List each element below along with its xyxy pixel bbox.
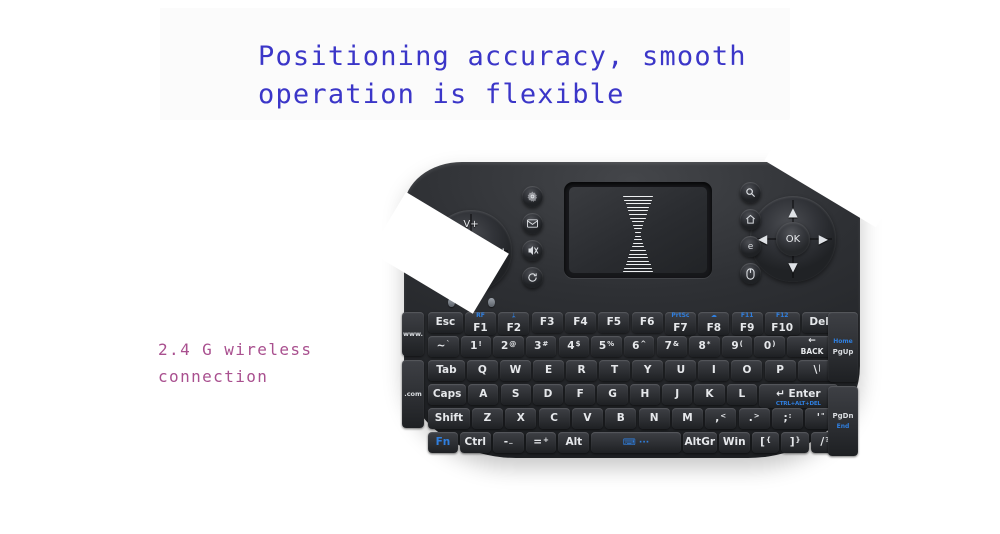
key-m[interactable]: M bbox=[672, 408, 703, 429]
side-key-com[interactable]: .com bbox=[402, 360, 424, 428]
touchpad-motif-stripe bbox=[635, 236, 640, 237]
key-z[interactable]: Z bbox=[472, 408, 503, 429]
touchpad-motif-stripe bbox=[624, 200, 652, 201]
key-f10[interactable]: F12F10 bbox=[765, 312, 800, 335]
key-r[interactable]: R bbox=[566, 360, 597, 381]
key-v[interactable]: V bbox=[572, 408, 603, 429]
body-bevel-left bbox=[370, 192, 509, 314]
edge-key-pgup[interactable]: HomePgUp bbox=[828, 312, 858, 382]
key-y[interactable]: Y bbox=[632, 360, 663, 381]
product-image: V+ V− ⏮ ⏭ ⏯ ▲ ▼ ◀ ▶ OK bbox=[398, 158, 868, 468]
touchpad-motif-stripe bbox=[634, 239, 642, 240]
key-f6[interactable]: F6 bbox=[632, 312, 663, 333]
touchpad-motif-stripe bbox=[626, 203, 651, 204]
key-key[interactable]: -_ bbox=[493, 432, 524, 453]
keyboard-body: V+ V− ⏮ ⏭ ⏯ ▲ ▼ ◀ ▶ OK bbox=[404, 162, 860, 458]
key-key[interactable]: =+ bbox=[526, 432, 557, 453]
key-f3[interactable]: F3 bbox=[532, 312, 563, 333]
touchpad-motif-stripe bbox=[627, 207, 650, 208]
key-2[interactable]: 2@ bbox=[493, 336, 524, 357]
key-f2[interactable]: ᛦF2 bbox=[498, 312, 529, 335]
settings-icon[interactable] bbox=[522, 186, 543, 207]
key-row-function-row: EscRFF1ᛦF2F3F4F5F6PrtScF7☁F8F11F9F12F10D… bbox=[428, 312, 840, 334]
touchpad-motif-stripe bbox=[627, 261, 650, 262]
key-f7[interactable]: PrtScF7 bbox=[665, 312, 696, 335]
key-d[interactable]: D bbox=[533, 384, 563, 405]
touchpad-motif-stripe bbox=[635, 232, 640, 233]
mute-icon[interactable] bbox=[522, 240, 543, 261]
touchpad-motif-stripe bbox=[629, 254, 647, 255]
key-g[interactable]: G bbox=[597, 384, 627, 405]
touchpad-motif-stripe bbox=[626, 264, 651, 265]
key-7[interactable]: 7& bbox=[657, 336, 688, 357]
key-row-number-row: ~`1!2@3#4$5%6^7&8*9(0)←BACK bbox=[428, 336, 840, 358]
key-key[interactable]: .> bbox=[739, 408, 770, 429]
key-t[interactable]: T bbox=[599, 360, 630, 381]
key-h[interactable]: H bbox=[630, 384, 660, 405]
touchpad-motif-stripe bbox=[628, 210, 648, 211]
key-altgr[interactable]: AltGr bbox=[683, 432, 717, 453]
key-key[interactable]: ]} bbox=[781, 432, 809, 453]
ok-button[interactable]: OK bbox=[776, 222, 810, 256]
key-space[interactable]: ⌨ ··· bbox=[591, 432, 680, 453]
home-icon[interactable] bbox=[740, 209, 761, 230]
touchpad-motif-stripe bbox=[630, 218, 645, 219]
touchpad-motif-stripe bbox=[623, 196, 653, 197]
key-f4[interactable]: F4 bbox=[565, 312, 596, 333]
key-5[interactable]: 5% bbox=[591, 336, 622, 357]
key-4[interactable]: 4$ bbox=[559, 336, 590, 357]
side-key-www[interactable]: www. bbox=[402, 312, 424, 356]
key-n[interactable]: N bbox=[639, 408, 670, 429]
key-caps[interactable]: Caps bbox=[428, 384, 466, 405]
feature-caption: 2.4 G wireless connection bbox=[158, 336, 388, 390]
key-esc[interactable]: Esc bbox=[428, 312, 463, 333]
key-8[interactable]: 8* bbox=[689, 336, 720, 357]
key-alt[interactable]: Alt bbox=[558, 432, 589, 453]
key-win[interactable]: Win bbox=[719, 432, 750, 453]
key-w[interactable]: W bbox=[500, 360, 531, 381]
touchpad-motif-stripe bbox=[628, 257, 648, 258]
mouse-icon[interactable] bbox=[740, 263, 761, 284]
key-f[interactable]: F bbox=[565, 384, 595, 405]
key-a[interactable]: A bbox=[468, 384, 498, 405]
key-o[interactable]: O bbox=[731, 360, 762, 381]
dpad-down-icon[interactable]: ▼ bbox=[788, 260, 797, 274]
key-3[interactable]: 3# bbox=[526, 336, 557, 357]
key-key[interactable]: ,< bbox=[705, 408, 736, 429]
refresh-icon[interactable] bbox=[522, 267, 543, 288]
key-q[interactable]: Q bbox=[467, 360, 498, 381]
touchpad-motif-stripe bbox=[630, 250, 645, 251]
key-e[interactable]: E bbox=[533, 360, 564, 381]
key-f5[interactable]: F5 bbox=[598, 312, 629, 333]
key-tab[interactable]: Tab bbox=[428, 360, 465, 381]
mail-icon[interactable] bbox=[522, 213, 543, 234]
touchpad-motif-stripe bbox=[623, 271, 653, 272]
key-f8[interactable]: ☁F8 bbox=[698, 312, 729, 335]
touchpad-motif-stripe bbox=[634, 228, 642, 229]
key-p[interactable]: P bbox=[765, 360, 796, 381]
key-1[interactable]: 1! bbox=[461, 336, 492, 357]
key-i[interactable]: I bbox=[698, 360, 729, 381]
key-key[interactable]: ;: bbox=[772, 408, 803, 429]
key-k[interactable]: K bbox=[694, 384, 724, 405]
key-u[interactable]: U bbox=[665, 360, 696, 381]
key-ctrl[interactable]: Ctrl bbox=[460, 432, 491, 453]
key-6[interactable]: 6^ bbox=[624, 336, 655, 357]
touchpad-motif-stripe bbox=[629, 214, 647, 215]
key-s[interactable]: S bbox=[501, 384, 531, 405]
touchpad-motif-stripe bbox=[632, 246, 645, 247]
led-3 bbox=[488, 298, 495, 307]
search-icon[interactable] bbox=[740, 182, 761, 203]
key-key[interactable]: [{ bbox=[752, 432, 780, 453]
key-row-bottom-row: FnCtrl-_=+Alt⌨ ···AltGrWin[{]}/? bbox=[428, 432, 840, 454]
navigation-dpad[interactable]: ▲ ▼ ◀ ▶ OK bbox=[750, 196, 836, 282]
key-fn[interactable]: Fn bbox=[428, 432, 458, 453]
touchpad-motif-stripe bbox=[633, 225, 643, 226]
touchpad-surface[interactable] bbox=[569, 187, 707, 273]
page-headline: Positioning accuracy, smooth operation i… bbox=[258, 38, 778, 114]
key-j[interactable]: J bbox=[662, 384, 692, 405]
key-shift[interactable]: Shift bbox=[428, 408, 470, 429]
touchpad-motif-stripe bbox=[632, 221, 645, 222]
key-enter[interactable]: ↵ EnterCTRL+ALT+DEL bbox=[759, 384, 838, 408]
key-row-qwerty-row: TabQWERTYUIOP\| bbox=[428, 360, 840, 382]
dpad-up-icon[interactable]: ▲ bbox=[788, 205, 797, 219]
key-key[interactable]: ~` bbox=[428, 336, 459, 357]
touchpad-motif-stripe bbox=[624, 268, 652, 269]
key-x[interactable]: X bbox=[505, 408, 536, 429]
key-c[interactable]: C bbox=[539, 408, 570, 429]
key-row-home-row: CapsASDFGHJKL↵ EnterCTRL+ALT+DEL bbox=[428, 384, 840, 406]
touchpad-motif-stripe bbox=[633, 243, 643, 244]
touchpad-motif bbox=[621, 196, 655, 274]
touchpad[interactable] bbox=[564, 182, 712, 278]
edge-key-pgdn[interactable]: PgDnEnd bbox=[828, 386, 858, 456]
key-row-shift-row: ShiftZXCVBNM,<.>;:'" bbox=[428, 408, 840, 430]
browser-e-icon[interactable]: e bbox=[740, 236, 761, 257]
key-grid: EscRFF1ᛦF2F3F4F5F6PrtScF7☁F8F11F9F12F10D… bbox=[428, 312, 840, 456]
key-b[interactable]: B bbox=[605, 408, 636, 429]
key-0[interactable]: 0) bbox=[754, 336, 785, 357]
dpad-right-icon[interactable]: ▶ bbox=[819, 232, 828, 246]
headline-accent-strip bbox=[160, 120, 790, 132]
key-f1[interactable]: RFF1 bbox=[465, 312, 496, 335]
key-l[interactable]: L bbox=[727, 384, 757, 405]
key-f9[interactable]: F11F9 bbox=[732, 312, 763, 335]
key-9[interactable]: 9( bbox=[722, 336, 753, 357]
